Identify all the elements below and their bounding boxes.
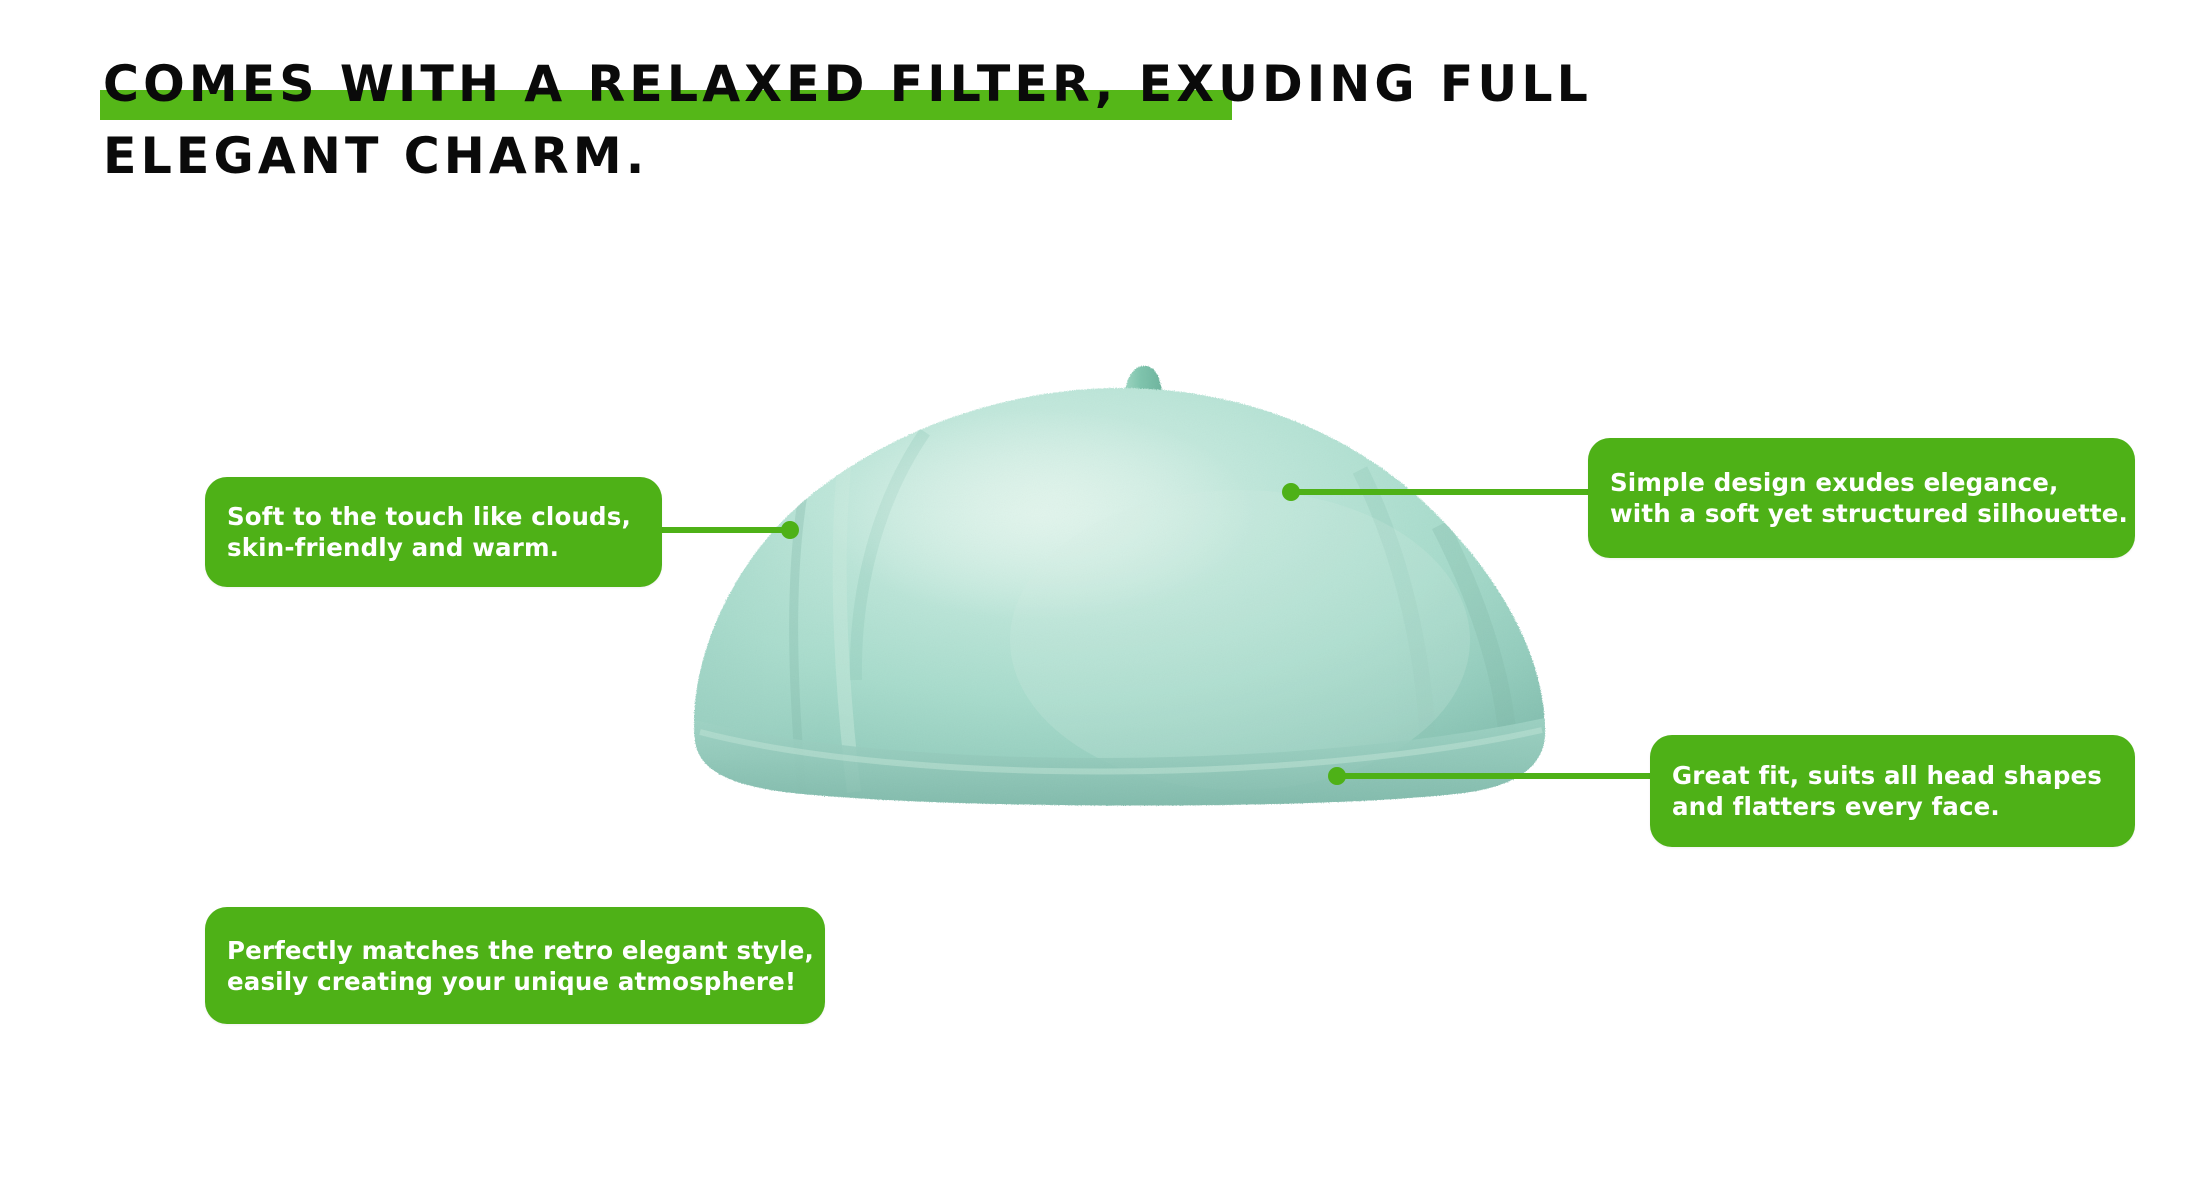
- page-title: COMES WITH A RELAXED FILTER, EXUDING FUL…: [103, 48, 2003, 192]
- connector-dot: [1328, 767, 1346, 785]
- connector-dot: [781, 521, 799, 539]
- title-line-2: ELEGANT CHARM.: [103, 120, 1965, 192]
- connector-line: [1336, 773, 1654, 779]
- connector-line: [655, 527, 795, 533]
- connector-dot: [1282, 483, 1300, 501]
- callout-great-fit[interactable]: Great fit, suits all head shapes and fla…: [1650, 735, 2135, 847]
- product-image-beret: [640, 340, 1600, 840]
- callout-soft-touch[interactable]: Soft to the touch like clouds, skin-frie…: [205, 477, 662, 587]
- callout-line-1: Soft to the touch like clouds,: [227, 501, 662, 532]
- callout-line-1: Great fit, suits all head shapes: [1672, 760, 2135, 791]
- callout-line-2: with a soft yet structured silhouette.: [1610, 498, 2135, 529]
- callout-line-2: and flatters every face.: [1672, 791, 2135, 822]
- connector-line: [1290, 489, 1592, 495]
- callout-retro-style[interactable]: Perfectly matches the retro elegant styl…: [205, 907, 825, 1024]
- infographic-canvas: COMES WITH A RELAXED FILTER, EXUDING FUL…: [0, 0, 2200, 1200]
- title-line-1: COMES WITH A RELAXED FILTER, EXUDING FUL…: [103, 48, 1965, 120]
- callout-line-1: Perfectly matches the retro elegant styl…: [227, 935, 825, 966]
- callout-line-1: Simple design exudes elegance,: [1610, 467, 2135, 498]
- callout-line-2: skin-friendly and warm.: [227, 532, 662, 563]
- callout-line-2: easily creating your unique atmosphere!: [227, 966, 825, 997]
- callout-simple-design[interactable]: Simple design exudes elegance, with a so…: [1588, 438, 2135, 558]
